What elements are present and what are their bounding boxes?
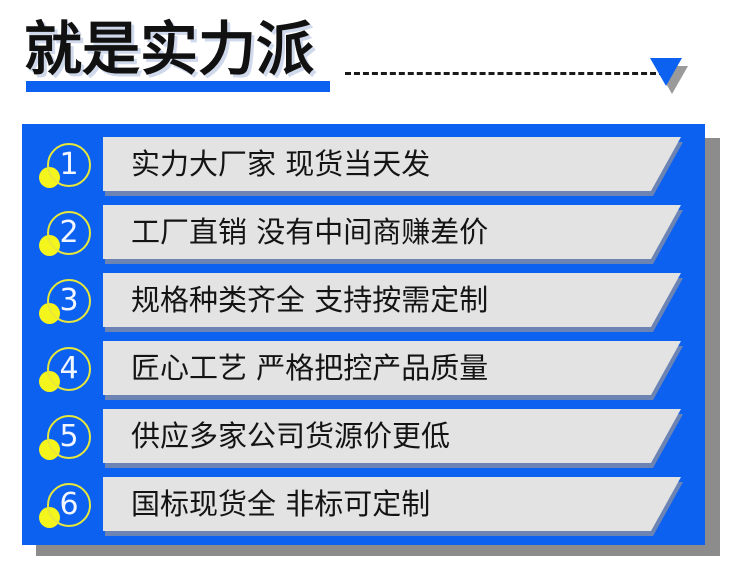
arrow-down-icon-fill xyxy=(650,58,682,86)
number-badge-icon: 1 xyxy=(39,141,95,193)
list-item-bar[interactable]: 规格种类齐全 支持按需定制 xyxy=(103,273,683,331)
page-title: 就是实力派 xyxy=(24,16,314,88)
number-badge-icon: 6 xyxy=(39,481,95,533)
list-item-bar[interactable]: 匠心工艺 严格把控产品质量 xyxy=(103,341,683,399)
number-badge-icon: 4 xyxy=(39,345,95,397)
number-badge-icon: 2 xyxy=(39,209,95,261)
list-item-label: 匠心工艺 严格把控产品质量 xyxy=(131,341,488,395)
list-item-label: 实力大厂家 现货当天发 xyxy=(131,137,430,191)
badge-number: 4 xyxy=(47,347,91,391)
number-badge-icon: 5 xyxy=(39,413,95,465)
badge-number: 6 xyxy=(47,483,91,527)
list-item-bar[interactable]: 供应多家公司货源价更低 xyxy=(103,409,683,467)
feature-list-panel: 1 实力大厂家 现货当天发 2 工厂直销 没有中间商赚差价 xyxy=(22,124,705,545)
dashed-divider xyxy=(345,72,665,75)
list-item[interactable]: 2 工厂直销 没有中间商赚差价 xyxy=(22,201,705,267)
badge-number: 5 xyxy=(47,415,91,459)
list-item-bar[interactable]: 工厂直销 没有中间商赚差价 xyxy=(103,205,683,263)
list-item[interactable]: 5 供应多家公司货源价更低 xyxy=(22,405,705,471)
page-title-text: 就是实力派 xyxy=(24,16,314,82)
list-item-bar[interactable]: 国标现货全 非标可定制 xyxy=(103,477,683,535)
list-item[interactable]: 3 规格种类齐全 支持按需定制 xyxy=(22,269,705,335)
feature-list: 1 实力大厂家 现货当天发 2 工厂直销 没有中间商赚差价 xyxy=(22,133,705,541)
list-item-bar[interactable]: 实力大厂家 现货当天发 xyxy=(103,137,683,195)
list-item-label: 国标现货全 非标可定制 xyxy=(131,477,430,531)
badge-number: 3 xyxy=(47,279,91,323)
list-item[interactable]: 4 匠心工艺 严格把控产品质量 xyxy=(22,337,705,403)
list-item[interactable]: 1 实力大厂家 现货当天发 xyxy=(22,133,705,199)
list-item-label: 供应多家公司货源价更低 xyxy=(131,409,450,463)
list-item-label: 规格种类齐全 支持按需定制 xyxy=(131,273,488,327)
badge-number: 2 xyxy=(47,211,91,255)
number-badge-icon: 3 xyxy=(39,277,95,329)
header-banner: 就是实力派 xyxy=(0,0,750,118)
arrow-down-icon xyxy=(650,58,690,98)
list-item[interactable]: 6 国标现货全 非标可定制 xyxy=(22,473,705,539)
list-item-label: 工厂直销 没有中间商赚差价 xyxy=(131,205,488,259)
badge-number: 1 xyxy=(47,143,91,187)
